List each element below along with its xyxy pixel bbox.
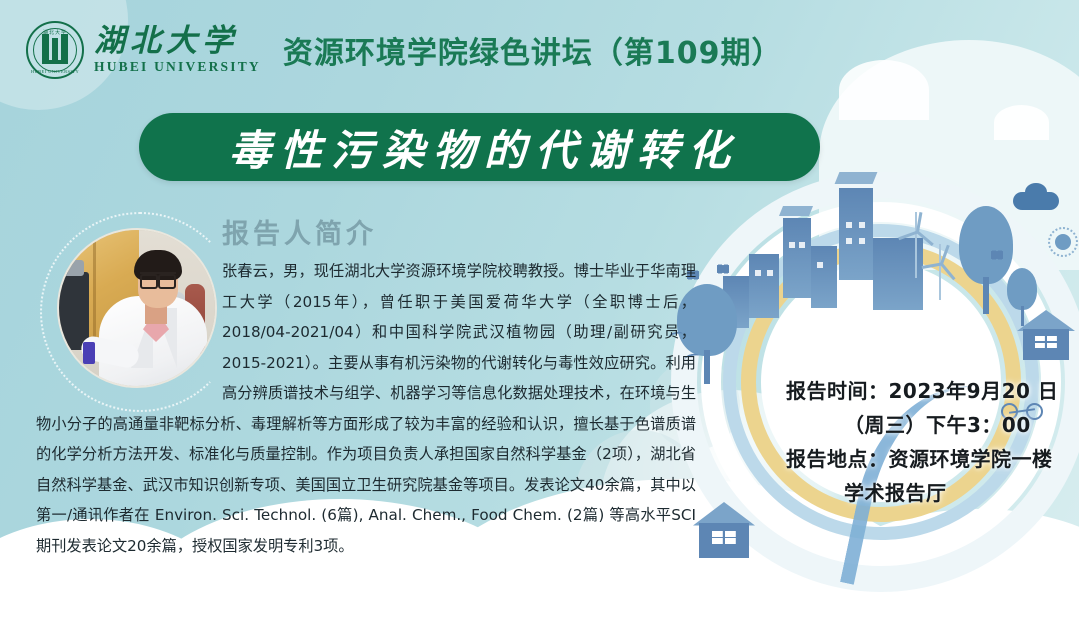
- speaker-section-heading: 报告人简介: [222, 212, 377, 251]
- university-logo: 湖北大学 HUBEI UNIVERSITY 湖北大学 HUBEI UNIVERS…: [26, 21, 261, 79]
- event-info-block: 报告时间：2023年9月20 日 （周三）下午3：00 报告地点：资源环境学院一…: [786, 374, 1066, 510]
- event-place-value-line1: 资源环境学院一楼: [889, 447, 1053, 471]
- poster-header: 湖北大学 HUBEI UNIVERSITY 湖北大学 HUBEI UNIVERS…: [0, 0, 1079, 100]
- event-time-line: 报告时间：2023年9月20 日: [786, 374, 1066, 408]
- sun-icon: [1055, 234, 1071, 250]
- house-bottom-left-icon: [699, 502, 749, 558]
- wind-turbine-2-icon: [929, 244, 951, 300]
- event-place-line2: 学术报告厅: [786, 476, 1066, 510]
- lecture-title: 毒性污染物的代谢转化: [220, 117, 739, 178]
- event-place-label: 报告地点：: [786, 447, 889, 471]
- poster-canvas: 湖北大学 HUBEI UNIVERSITY 湖北大学 HUBEI UNIVERS…: [0, 0, 1079, 619]
- event-place-line: 报告地点：资源环境学院一楼: [786, 442, 1066, 476]
- butterfly-3-icon: [991, 250, 1003, 260]
- bio-photo-wrap-spacer: [36, 256, 222, 408]
- butterfly-2-icon: [717, 264, 729, 274]
- cloud-tiny-icon: [994, 105, 1049, 140]
- seal-gate-glyph-icon: [42, 34, 68, 64]
- speaker-bio: 张春云，男，现任湖北大学资源环境学院校聘教授。博士毕业于华南理工大学（2015年…: [36, 256, 696, 561]
- seal-ring-text: HUBEI UNIVERSITY: [28, 69, 82, 74]
- house-right-icon: [1023, 310, 1069, 360]
- logo-name-en: HUBEI UNIVERSITY: [94, 59, 261, 75]
- building-tall-center-icon: [839, 188, 873, 280]
- solar-panel-icon: [835, 172, 878, 184]
- page-title: 资源环境学院绿色讲坛（第109期）: [283, 28, 783, 72]
- building-left-1-icon: [749, 254, 779, 318]
- event-time-label: 报告时间：: [786, 379, 889, 403]
- building-mid-right-icon: [811, 246, 837, 308]
- university-seal-icon: 湖北大学 HUBEI UNIVERSITY: [26, 21, 84, 79]
- cloud-blue-icon: [1013, 192, 1059, 210]
- seal-inner-ring: [33, 28, 77, 72]
- solar-panel-left-icon: [779, 206, 813, 216]
- tree-big-icon: [959, 206, 1013, 314]
- logo-name-cn: 湖北大学: [94, 25, 261, 58]
- event-time-value-line1: 2023年9月20 日: [889, 379, 1059, 403]
- event-time-line2: （周三）下午3：00: [786, 408, 1066, 442]
- building-left-2-icon: [783, 218, 811, 298]
- logo-wordmark: 湖北大学 HUBEI UNIVERSITY: [94, 25, 261, 76]
- lecture-title-banner: 毒性污染物的代谢转化: [139, 113, 820, 181]
